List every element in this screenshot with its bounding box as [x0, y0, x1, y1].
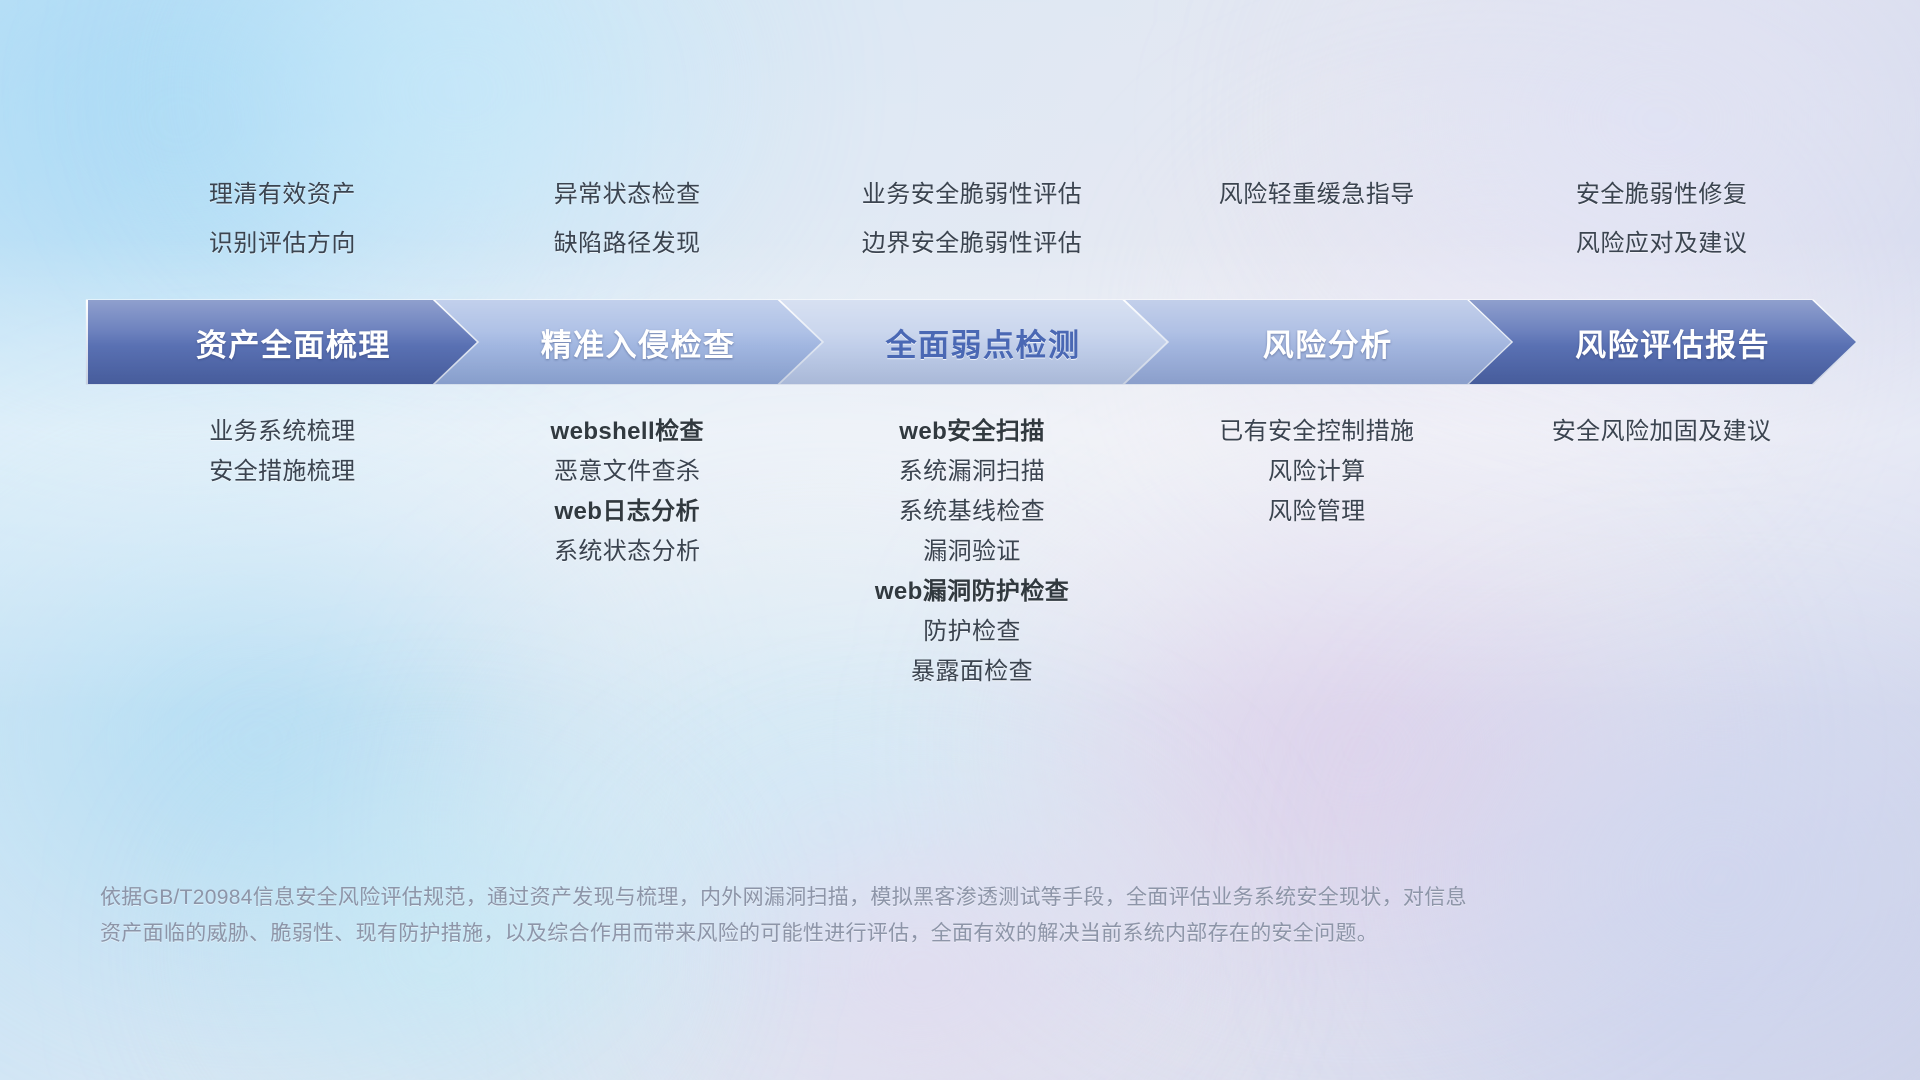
stage-input-item: 异常状态检查 — [455, 170, 800, 219]
stage-activity-item: 防护检查 — [800, 612, 1145, 652]
stage-activity-item: 已有安全控制措施 — [1144, 412, 1489, 452]
stage-input-item: 边界安全脆弱性评估 — [800, 219, 1145, 268]
footer-line-2: 资产面临的威胁、脆弱性、现有防护措施，以及综合作用而带来风险的可能性进行评估，全… — [100, 916, 1770, 952]
stage-input-item: 安全脆弱性修复 — [1489, 170, 1834, 219]
stage-activities-1: 业务系统梳理安全措施梳理 — [110, 412, 455, 492]
stage-input-item: 识别评估方向 — [110, 219, 455, 268]
stage-activity-item: webshell检查 — [455, 412, 800, 452]
stage-activities-5: 安全风险加固及建议 — [1489, 412, 1834, 452]
process-stage-2[interactable]: 精准入侵检查 — [433, 300, 822, 384]
stage-activity-item: web安全扫描 — [800, 412, 1145, 452]
stage-activity-item: 风险计算 — [1144, 452, 1489, 492]
stage-activity-item: 业务系统梳理 — [110, 412, 455, 452]
process-stage-4[interactable]: 风险分析 — [1122, 300, 1511, 384]
process-stage-3[interactable]: 全面弱点检测 — [778, 300, 1167, 384]
stage-input-item: 风险应对及建议 — [1489, 219, 1834, 268]
stage-activity-item: 暴露面检查 — [800, 652, 1145, 692]
process-stage-title: 资产全面梳理 — [196, 320, 391, 365]
stage-activity-item: web日志分析 — [455, 492, 800, 532]
stage-input-item: 理清有效资产 — [110, 170, 455, 219]
stage-input-item: 缺陷路径发现 — [455, 219, 800, 268]
process-stage-1[interactable]: 资产全面梳理 — [88, 300, 477, 384]
stage-activity-item: 漏洞验证 — [800, 532, 1145, 572]
process-stage-title: 风险评估报告 — [1575, 320, 1770, 365]
stage-inputs-4: 风险轻重缓急指导 — [1144, 170, 1489, 219]
process-stage-title: 全面弱点检测 — [885, 320, 1080, 365]
stage-activity-item: 恶意文件查杀 — [455, 452, 800, 492]
stage-inputs-1: 理清有效资产识别评估方向 — [110, 170, 455, 268]
stage-activities-3: web安全扫描系统漏洞扫描系统基线检查漏洞验证web漏洞防护检查防护检查暴露面检… — [800, 412, 1145, 692]
stage-inputs-3: 业务安全脆弱性评估边界安全脆弱性评估 — [800, 170, 1145, 268]
stage-activities-2: webshell检查恶意文件查杀web日志分析系统状态分析 — [455, 412, 800, 572]
stage-activity-item: 系统漏洞扫描 — [800, 452, 1145, 492]
stage-input-item: 风险轻重缓急指导 — [1144, 170, 1489, 219]
stage-inputs-2: 异常状态检查缺陷路径发现 — [455, 170, 800, 268]
stage-input-item: 业务安全脆弱性评估 — [800, 170, 1145, 219]
stage-activity-item: 安全风险加固及建议 — [1489, 412, 1834, 452]
stage-activity-item: web漏洞防护检查 — [800, 572, 1145, 612]
process-stage-title: 精准入侵检查 — [541, 320, 736, 365]
stage-activities-4: 已有安全控制措施风险计算风险管理 — [1144, 412, 1489, 532]
process-chevron-band: 资产全面梳理精准入侵检查全面弱点检测风险分析风险评估报告 — [0, 300, 1920, 384]
footer-description: 依据GB/T20984信息安全风险评估规范，通过资产发现与梳理，内外网漏洞扫描，… — [100, 880, 1770, 952]
stage-activity-item: 风险管理 — [1144, 492, 1489, 532]
footer-line-1: 依据GB/T20984信息安全风险评估规范，通过资产发现与梳理，内外网漏洞扫描，… — [100, 880, 1770, 916]
stage-inputs-5: 安全脆弱性修复风险应对及建议 — [1489, 170, 1834, 268]
stage-activity-item: 安全措施梳理 — [110, 452, 455, 492]
process-stage-title: 风险分析 — [1263, 320, 1393, 365]
stage-activity-item: 系统基线检查 — [800, 492, 1145, 532]
stage-activity-item: 系统状态分析 — [455, 532, 800, 572]
process-stage-5[interactable]: 风险评估报告 — [1467, 300, 1856, 384]
